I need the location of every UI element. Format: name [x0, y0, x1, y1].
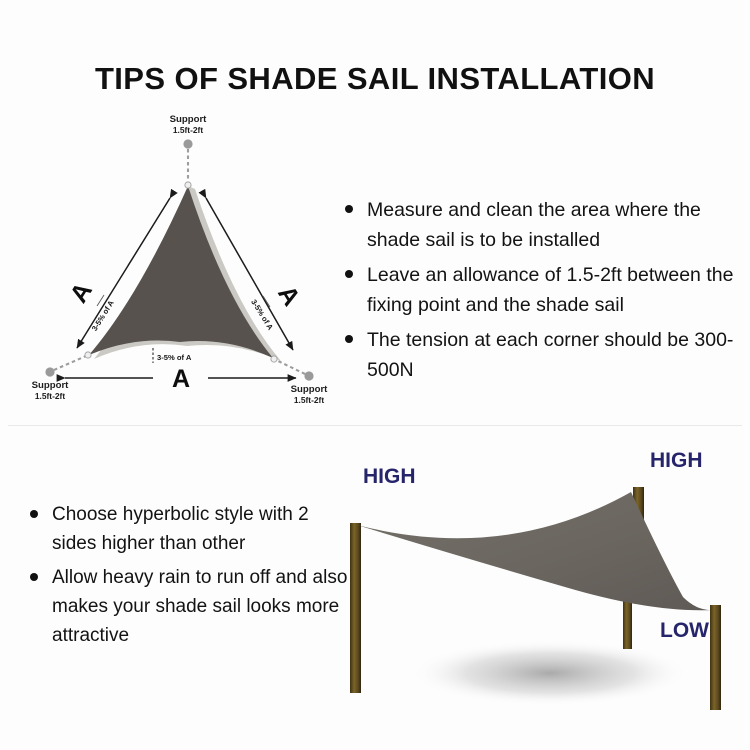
support-label-bottom-right-dimension: 1.5ft-2ft	[294, 395, 324, 405]
section-divider	[8, 425, 742, 426]
side-label-left-A: A	[65, 278, 98, 308]
support-label-bottom-left-dimension: 1.5ft-2ft	[35, 391, 65, 401]
bullet-dot-icon	[345, 205, 353, 213]
corner-label-left-high: HIGH	[363, 465, 416, 488]
infographic-page: TIPS OF SHADE SAIL INSTALLATION Support	[0, 0, 750, 750]
hyperbolic-shade-sail-svg: HIGH HIGH LOW	[335, 435, 750, 735]
fixing-point-bottom-right	[271, 356, 277, 362]
tips-bottom-list: Choose hyperbolic style with 2 sides hig…	[30, 500, 350, 650]
tip-text: Leave an allowance of 1.5-2ft between th…	[367, 264, 733, 316]
side-note-bottom-percent: 3-5% of A	[157, 353, 192, 362]
tip-text: Allow heavy rain to run off and also mak…	[52, 567, 347, 646]
anchor-point-bottom-left	[45, 367, 54, 376]
list-item: Leave an allowance of 1.5-2ft between th…	[345, 260, 745, 320]
triangle-diagram-panel: Support 1.5ft-2ft Support 1.5ft-2ft Supp…	[20, 110, 360, 415]
fixing-point-top	[185, 182, 191, 188]
list-item: The tension at each corner should be 300…	[345, 325, 745, 385]
support-label-bottom-left-name: Support	[32, 380, 70, 391]
bullet-dot-icon	[345, 335, 353, 343]
side-label-bottom-A: A	[172, 365, 190, 393]
anchor-point-bottom-right	[304, 371, 313, 380]
bullet-dot-icon	[30, 573, 38, 581]
tip-text: The tension at each corner should be 300…	[367, 329, 733, 381]
tether-line-bottom-right	[276, 360, 305, 374]
list-item: Allow heavy rain to run off and also mak…	[30, 563, 350, 650]
installation-tips-top-panel: Measure and clean the area where the sha…	[345, 195, 745, 390]
hyperbolic-sail-shape	[357, 492, 713, 610]
support-label-top-name: Support	[170, 114, 208, 125]
side-label-right-A: A	[272, 281, 305, 311]
page-title: TIPS OF SHADE SAIL INSTALLATION	[0, 61, 750, 97]
tip-text: Choose hyperbolic style with 2 sides hig…	[52, 504, 309, 554]
triangle-shade-sail-svg: Support 1.5ft-2ft Support 1.5ft-2ft Supp…	[20, 110, 360, 415]
support-label-top-dimension: 1.5ft-2ft	[173, 125, 203, 135]
triangle-sail-shape	[89, 186, 273, 358]
hyperbolic-diagram-panel: HIGH HIGH LOW	[335, 435, 750, 735]
anchor-point-top	[183, 139, 192, 148]
corner-label-low: LOW	[660, 619, 709, 642]
tether-line-bottom-left	[54, 356, 86, 370]
bullet-dot-icon	[345, 270, 353, 278]
leader-line-right	[263, 296, 270, 307]
tips-top-list: Measure and clean the area where the sha…	[345, 195, 745, 385]
bullet-dot-icon	[30, 510, 38, 518]
post-right-low	[710, 605, 721, 710]
post-middle	[623, 598, 632, 649]
leader-line-left	[97, 295, 104, 306]
list-item: Choose hyperbolic style with 2 sides hig…	[30, 500, 350, 558]
tip-text: Measure and clean the area where the sha…	[367, 199, 701, 251]
ground-shadow	[410, 640, 690, 706]
list-item: Measure and clean the area where the sha…	[345, 195, 745, 255]
fixing-point-bottom-left	[85, 352, 91, 358]
support-label-bottom-right-name: Support	[291, 384, 329, 395]
corner-label-right-high: HIGH	[650, 449, 703, 472]
post-left-high	[350, 523, 361, 693]
installation-tips-bottom-panel: Choose hyperbolic style with 2 sides hig…	[30, 500, 350, 685]
